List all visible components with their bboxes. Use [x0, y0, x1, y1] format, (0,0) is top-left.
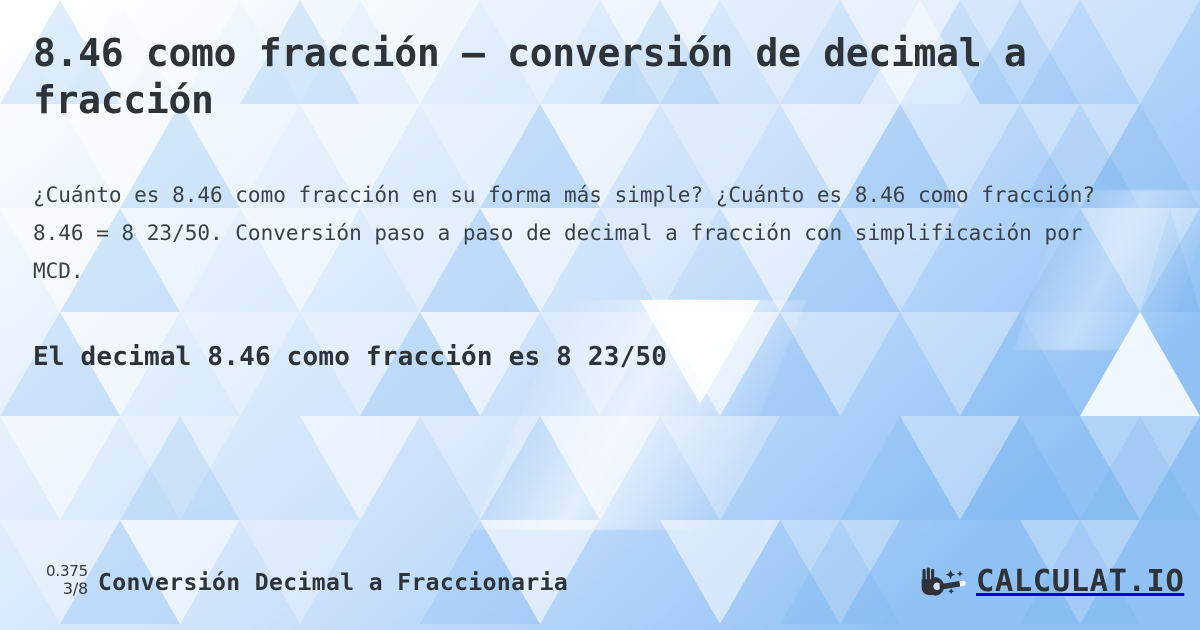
- calculatio-logo[interactable]: CALCULAT.IO: [919, 567, 1180, 597]
- page-title: 8.46 como fracción – conversión de decim…: [33, 30, 1093, 124]
- magic-wand-hand-icon: [919, 567, 969, 597]
- fraction-icon-decimal: 0.375: [26, 563, 88, 580]
- fraction-example-icon: 0.375 3/8: [26, 563, 88, 598]
- fraction-icon-fraction: 3/8: [26, 580, 88, 598]
- answer-statement: El decimal 8.46 como fracción es 8 23/50: [33, 340, 667, 374]
- page-content: 8.46 como fracción – conversión de decim…: [0, 0, 1200, 630]
- logo-text: CALCULAT.IO: [976, 567, 1184, 597]
- footer-site-title: Conversión Decimal a Fraccionaria: [98, 569, 568, 597]
- footer-bar: 0.375 3/8 Conversión Decimal a Fracciona…: [0, 546, 1200, 630]
- page-description: ¿Cuánto es 8.46 como fracción en su form…: [33, 176, 1123, 290]
